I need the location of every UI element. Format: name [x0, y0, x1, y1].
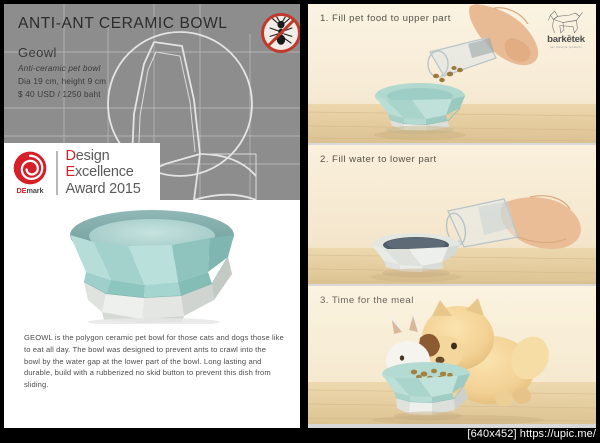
step-1-label: 1. Fill pet food to upper part	[320, 13, 451, 24]
product-dimensions: Dia 19 cm, height 9 cm	[18, 77, 106, 86]
award-cap-d: D	[66, 148, 76, 164]
step-2-photo	[308, 145, 596, 284]
screenshot-root: ANTI-ANT CERAMIC BOWL Geowl Anti-ceramic…	[0, 0, 600, 443]
barketek-name: barkētek	[540, 34, 592, 45]
right-panel: 1. Fill pet food to upper part barkētek …	[308, 4, 596, 428]
award-line-1: Design	[66, 148, 141, 164]
demark-mark: mark	[26, 186, 43, 195]
step-2-label: 2. Fill water to lower part	[320, 154, 437, 165]
award-cap-e: E	[66, 164, 75, 180]
left-panel: ANTI-ANT CERAMIC BOWL Geowl Anti-ceramic…	[4, 4, 300, 428]
product-description: GEOWL is the polygon ceramic pet bowl fo…	[24, 332, 284, 391]
demark-spiral-icon	[13, 151, 47, 185]
award-line-3: Award 2015	[66, 181, 141, 197]
barketek-logo: barkētek pet lifestyle products	[540, 9, 592, 49]
demark-logo: DEmark	[4, 143, 56, 202]
demark-de: DE	[17, 186, 27, 195]
award-rest-excellence: xcellence	[75, 164, 134, 180]
product-name: Geowl	[18, 45, 57, 60]
product-price: $ 40 USD / 1250 baht	[18, 90, 101, 99]
award-rest-design: esign	[76, 148, 110, 164]
barketek-tagline: pet lifestyle products	[540, 45, 592, 49]
page-title: ANTI-ANT CERAMIC BOWL	[18, 15, 228, 33]
product-subtitle: Anti-ceramic pet bowl	[18, 64, 100, 73]
watermark-text: [640x452] https://upic.me/	[467, 428, 596, 440]
demark-wordmark: DEmark	[17, 186, 44, 195]
award-line-2: Excellence	[66, 164, 141, 180]
step-2: 2. Fill water to lower part	[308, 145, 596, 284]
step-3: 3. Time for the meal	[308, 286, 596, 424]
no-ant-icon	[260, 12, 300, 54]
award-text: Design Excellence Award 2015	[58, 148, 141, 197]
step-3-photo	[308, 286, 596, 424]
product-photo-area	[4, 200, 300, 324]
polygon-dog-icon	[545, 9, 587, 35]
step-3-label: 3. Time for the meal	[320, 295, 414, 306]
demark-award-badge: DEmark Design Excellence Award 2015	[4, 143, 160, 202]
product-bowl-image	[50, 202, 255, 324]
